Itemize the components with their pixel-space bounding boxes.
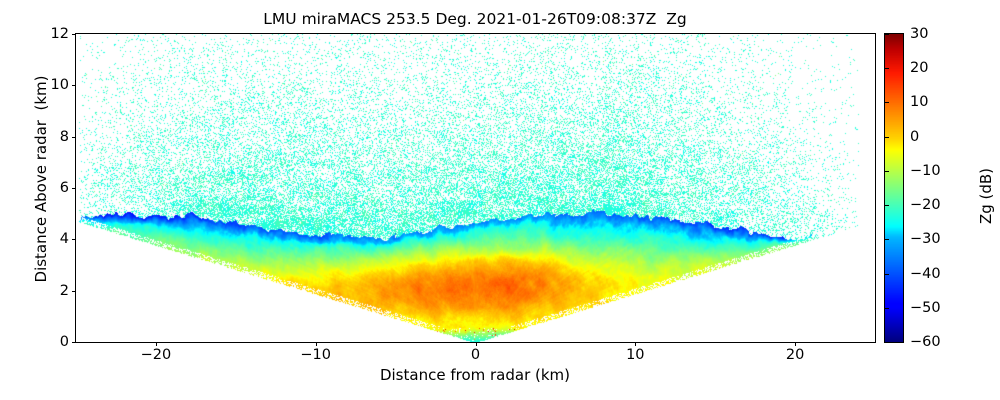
- y-tick-mark: [72, 34, 76, 35]
- y-tick-mark: [72, 239, 76, 240]
- colorbar-tick-mark: [884, 102, 889, 103]
- y-tick-label: 4: [60, 232, 69, 247]
- y-tick-mark: [72, 342, 76, 343]
- y-tick-mark: [72, 291, 76, 292]
- colorbar-tick-mark: [884, 274, 889, 275]
- x-tick-mark: [635, 342, 636, 346]
- y-tick-label: 10: [51, 78, 69, 93]
- colorbar-tick-mark: [884, 34, 889, 35]
- colorbar-tick-mark: [884, 205, 889, 206]
- radar-rhi-figure: LMU miraMACS 253.5 Deg. 2021-01-26T09:08…: [0, 0, 1000, 400]
- y-tick-label: 6: [60, 181, 69, 196]
- y-tick-mark: [72, 188, 76, 189]
- x-tick-label: −20: [141, 348, 172, 363]
- colorbar-tick-label: 10: [910, 95, 928, 110]
- y-tick-label: 8: [60, 129, 69, 144]
- colorbar-tick-label: 20: [910, 61, 928, 76]
- x-tick-mark: [316, 342, 317, 346]
- x-axis-label: Distance from radar (km): [75, 366, 875, 384]
- colorbar-label: Zg (dB): [977, 76, 995, 316]
- colorbar-tick-mark: [884, 342, 889, 343]
- x-tick-label: −10: [300, 348, 331, 363]
- colorbar-tick-mark: [884, 308, 889, 309]
- colorbar-gradient: [885, 34, 903, 342]
- colorbar-tick-mark: [884, 137, 889, 138]
- x-tick-mark: [156, 342, 157, 346]
- x-tick-label: 0: [471, 348, 480, 363]
- colorbar-tick-label: 0: [910, 129, 919, 144]
- y-tick-label: 0: [60, 335, 69, 350]
- colorbar-tick-label: −60: [910, 335, 941, 350]
- colorbar[interactable]: −60−50−40−30−20−100102030: [884, 33, 904, 343]
- y-tick-label: 2: [60, 283, 69, 298]
- x-tick-label: 10: [626, 348, 644, 363]
- colorbar-tick-label: −40: [910, 266, 941, 281]
- colorbar-tick-label: −20: [910, 198, 941, 213]
- x-tick-mark: [795, 342, 796, 346]
- colorbar-tick-label: −30: [910, 232, 941, 247]
- colorbar-tick-label: −10: [910, 164, 941, 179]
- colorbar-tick-mark: [884, 68, 889, 69]
- y-axis-label: Distance Above radar (km): [32, 24, 50, 334]
- radar-reflectivity-heatmap: [76, 34, 875, 342]
- x-tick-mark: [476, 342, 477, 346]
- plot-axes[interactable]: 024681012 −20−1001020: [75, 33, 876, 343]
- colorbar-tick-mark: [884, 171, 889, 172]
- colorbar-tick-mark: [884, 239, 889, 240]
- y-tick-label: 12: [51, 27, 69, 42]
- page-title: LMU miraMACS 253.5 Deg. 2021-01-26T09:08…: [0, 9, 950, 29]
- y-tick-mark: [72, 137, 76, 138]
- colorbar-tick-label: 30: [910, 27, 928, 42]
- y-tick-mark: [72, 85, 76, 86]
- x-tick-label: 20: [786, 348, 804, 363]
- colorbar-tick-label: −50: [910, 301, 941, 316]
